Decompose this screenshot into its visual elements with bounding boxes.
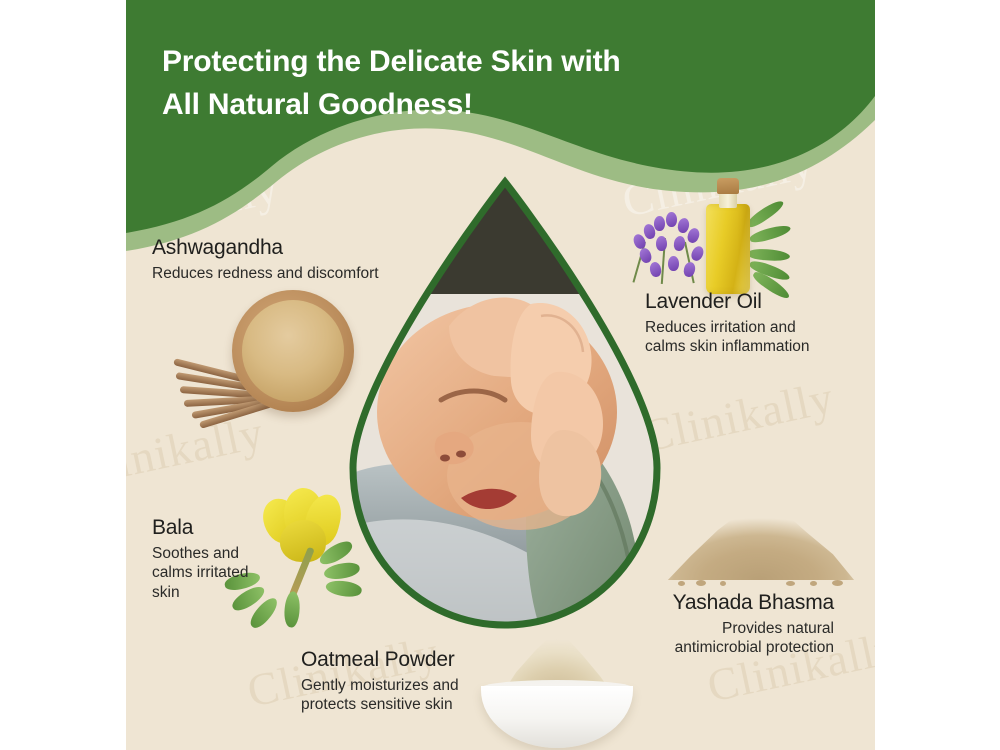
description-line-1: Soothes and: [152, 545, 239, 562]
ingredient-label-lavender-oil: Lavender Oil Reduces irritation and calm…: [645, 290, 810, 357]
description-line-2: calms skin inflammation: [645, 338, 810, 355]
description-line-2: calms irritated: [152, 564, 248, 581]
hero-teardrop-image: [345, 176, 665, 631]
page-title: Protecting the Delicate Skin with All Na…: [162, 40, 722, 126]
ashwagandha-bowl: [232, 290, 354, 412]
description-line-2: protects sensitive skin: [301, 696, 453, 713]
bhasma-powder-mound: [664, 494, 856, 580]
ingredient-description: Reduces redness and discomfort: [152, 264, 379, 284]
ingredient-description: Gently moisturizes and protects sensitiv…: [301, 676, 459, 715]
oil-bottle: [706, 204, 750, 294]
bottle-neck: [719, 192, 737, 208]
ingredient-label-yashada-bhasma: Yashada Bhasma Provides natural antimicr…: [526, 591, 834, 658]
ingredient-title: Oatmeal Powder: [301, 648, 459, 673]
ingredient-image-yashada-bhasma: [664, 486, 856, 586]
description-line-3: skin: [152, 584, 180, 601]
ingredient-label-bala: Bala Soothes and calms irritated skin: [152, 516, 272, 602]
ingredient-image-ashwagandha: [174, 288, 354, 433]
headline-line-1: Protecting the Delicate Skin with: [162, 45, 621, 78]
ingredient-title: Bala: [152, 516, 272, 541]
ingredient-description: Provides natural antimicrobial protectio…: [526, 619, 834, 658]
ingredient-label-ashwagandha: Ashwagandha Reduces redness and discomfo…: [152, 236, 379, 283]
ingredient-description: Reduces irritation and calms skin inflam…: [645, 318, 810, 357]
lavender-leaves: [748, 214, 826, 288]
ingredient-description: Soothes and calms irritated skin: [152, 544, 272, 603]
ingredient-title: Yashada Bhasma: [526, 591, 834, 616]
description-line-1: Reduces irritation and: [645, 319, 796, 336]
description-line-2: antimicrobial protection: [675, 639, 834, 656]
white-bowl: [481, 686, 633, 748]
headline-line-2: All Natural Goodness!: [162, 88, 473, 121]
description-line-1: Provides natural: [722, 620, 834, 637]
content-panel: Clinikally Clinikally Clinikally Clinika…: [126, 0, 875, 750]
ingredient-title: Lavender Oil: [645, 290, 810, 315]
ingredient-title: Ashwagandha: [152, 236, 379, 261]
infographic-canvas: Clinikally Clinikally Clinikally Clinika…: [0, 0, 1000, 750]
description-line-1: Gently moisturizes and: [301, 677, 459, 694]
bottle-cork: [717, 178, 739, 194]
ingredient-label-oatmeal-powder: Oatmeal Powder Gently moisturizes and pr…: [301, 648, 459, 715]
watermark: Clinikally: [638, 370, 839, 462]
